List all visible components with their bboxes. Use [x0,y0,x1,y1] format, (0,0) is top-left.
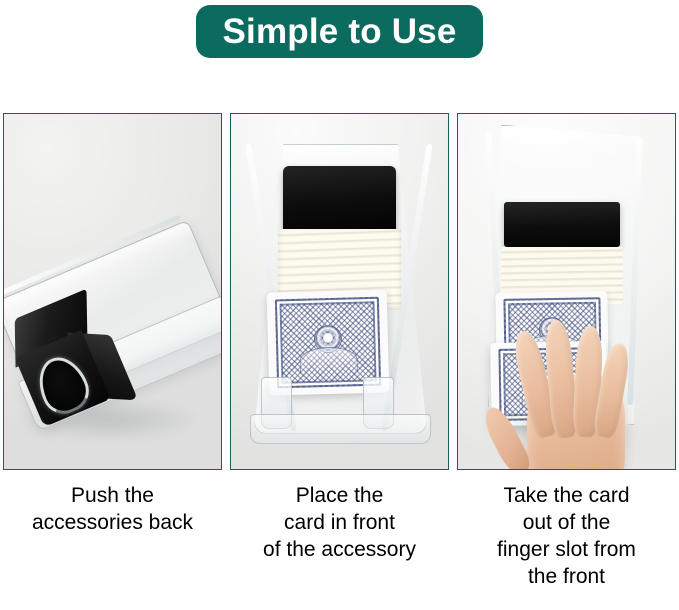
card-back-pattern-icon [276,297,382,388]
step-1-photo [4,114,221,469]
page-title: Simple to Use [222,14,456,49]
step-2-photo [231,114,448,469]
step-panel-2 [230,113,449,470]
steps-panel-row [3,113,676,470]
shoe-base [250,414,431,444]
caption-row: Push the accessories back Place the card… [3,482,676,590]
step-panel-3 [457,113,676,470]
header-banner-row: Simple to Use [0,5,679,58]
step-caption-3: Take the card out of the finger slot fro… [457,482,676,590]
step-caption-1: Push the accessories back [3,482,222,590]
hand-shadow [497,405,640,462]
black-pusher-block [283,166,396,232]
acrylic-shoe-2 [248,132,430,444]
black-pusher-block [504,202,620,247]
step-panel-1 [3,113,222,470]
acrylic-shoe-3 [488,125,644,423]
step-caption-2: Place the card in front of the accessory [230,482,449,590]
step-3-photo [458,114,675,469]
header-banner: Simple to Use [196,5,482,58]
